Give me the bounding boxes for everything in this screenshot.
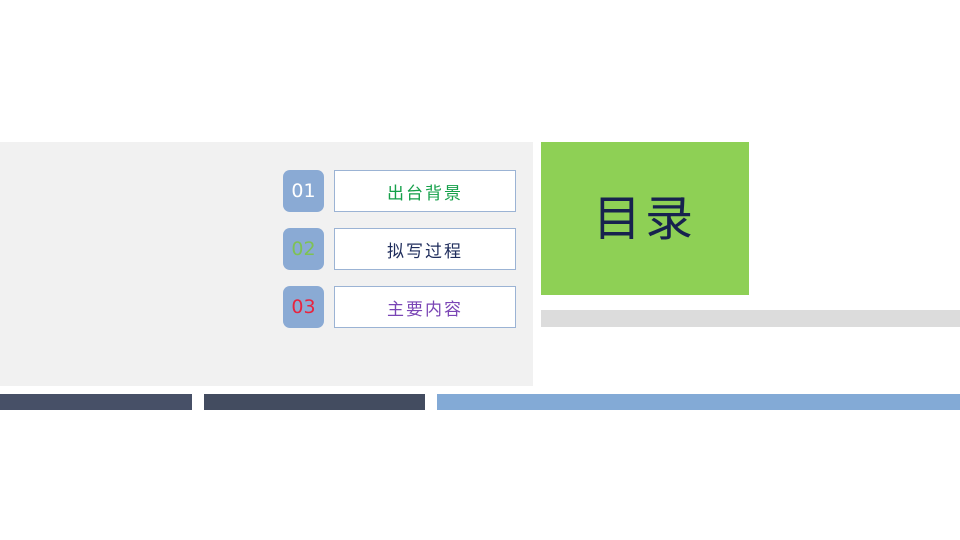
toc-entry-box-01[interactable]: 出台背景 xyxy=(334,170,516,212)
toc-entry-label-01: 出台背景 xyxy=(387,179,463,204)
toc-entry-box-03[interactable]: 主要内容 xyxy=(334,286,516,328)
toc-number-badge-02: 02 xyxy=(283,228,324,270)
list-item[interactable]: 02 拟写过程 xyxy=(283,228,523,270)
page-title: 目录 xyxy=(593,195,697,243)
list-item[interactable]: 01 出台背景 xyxy=(283,170,523,212)
toc-number-badge-01: 01 xyxy=(283,170,324,212)
bottom-accent-bar-middle xyxy=(204,394,425,410)
bottom-accent-bar-left xyxy=(0,394,192,410)
toc-entry-box-02[interactable]: 拟写过程 xyxy=(334,228,516,270)
toc-entry-label-02: 拟写过程 xyxy=(387,237,463,262)
slide-canvas: 01 出台背景 02 拟写过程 03 主要内容 目录 xyxy=(0,0,960,540)
toc-number-badge-03: 03 xyxy=(283,286,324,328)
section-title-block: 目录 xyxy=(541,142,749,295)
list-item[interactable]: 03 主要内容 xyxy=(283,286,523,328)
toc-entry-label-03: 主要内容 xyxy=(387,295,463,320)
bottom-accent-bar-right xyxy=(437,394,960,410)
gray-accent-bar xyxy=(541,310,960,327)
table-of-contents-list: 01 出台背景 02 拟写过程 03 主要内容 xyxy=(283,170,523,328)
